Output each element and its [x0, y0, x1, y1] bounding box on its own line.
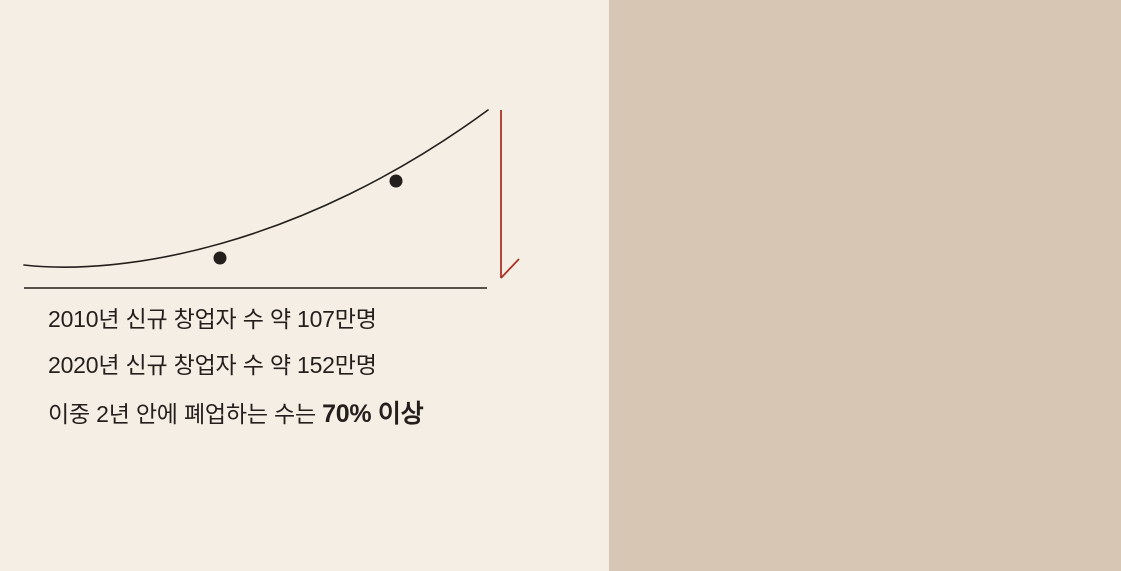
- growth-curve-path: [24, 110, 488, 267]
- growth-chart: [0, 85, 609, 310]
- left-panel: 2010년 신규 창업자 수 약 107만명 2020년 신규 창업자 수 약 …: [0, 0, 609, 571]
- data-point-marker-2010: [214, 252, 227, 265]
- data-point-marker-2020: [390, 175, 403, 188]
- stat-line-2020: 2020년 신규 창업자 수 약 152만명: [48, 354, 588, 377]
- poster-canvas: 2010년 신규 창업자 수 약 107만명 2020년 신규 창업자 수 약 …: [0, 0, 1121, 571]
- closure-rate-lead-text: 이중 2년 안에 폐업하는 수는: [48, 401, 322, 427]
- statistics-block: 2010년 신규 창업자 수 약 107만명 2020년 신규 창업자 수 약 …: [48, 308, 588, 427]
- closure-arrow-head-icon: [501, 259, 519, 278]
- stat-line-2010: 2010년 신규 창업자 수 약 107만명: [48, 308, 588, 331]
- closure-rate-emphasis-text: 70% 이상: [322, 400, 423, 428]
- stat-line-closure-rate: 이중 2년 안에 폐업하는 수는 70% 이상: [48, 402, 588, 427]
- right-panel: 안전성이 보장되는 브랜드? 꾸준히 오래가는 창업 아이템? 전국의 창업자는…: [609, 0, 1121, 571]
